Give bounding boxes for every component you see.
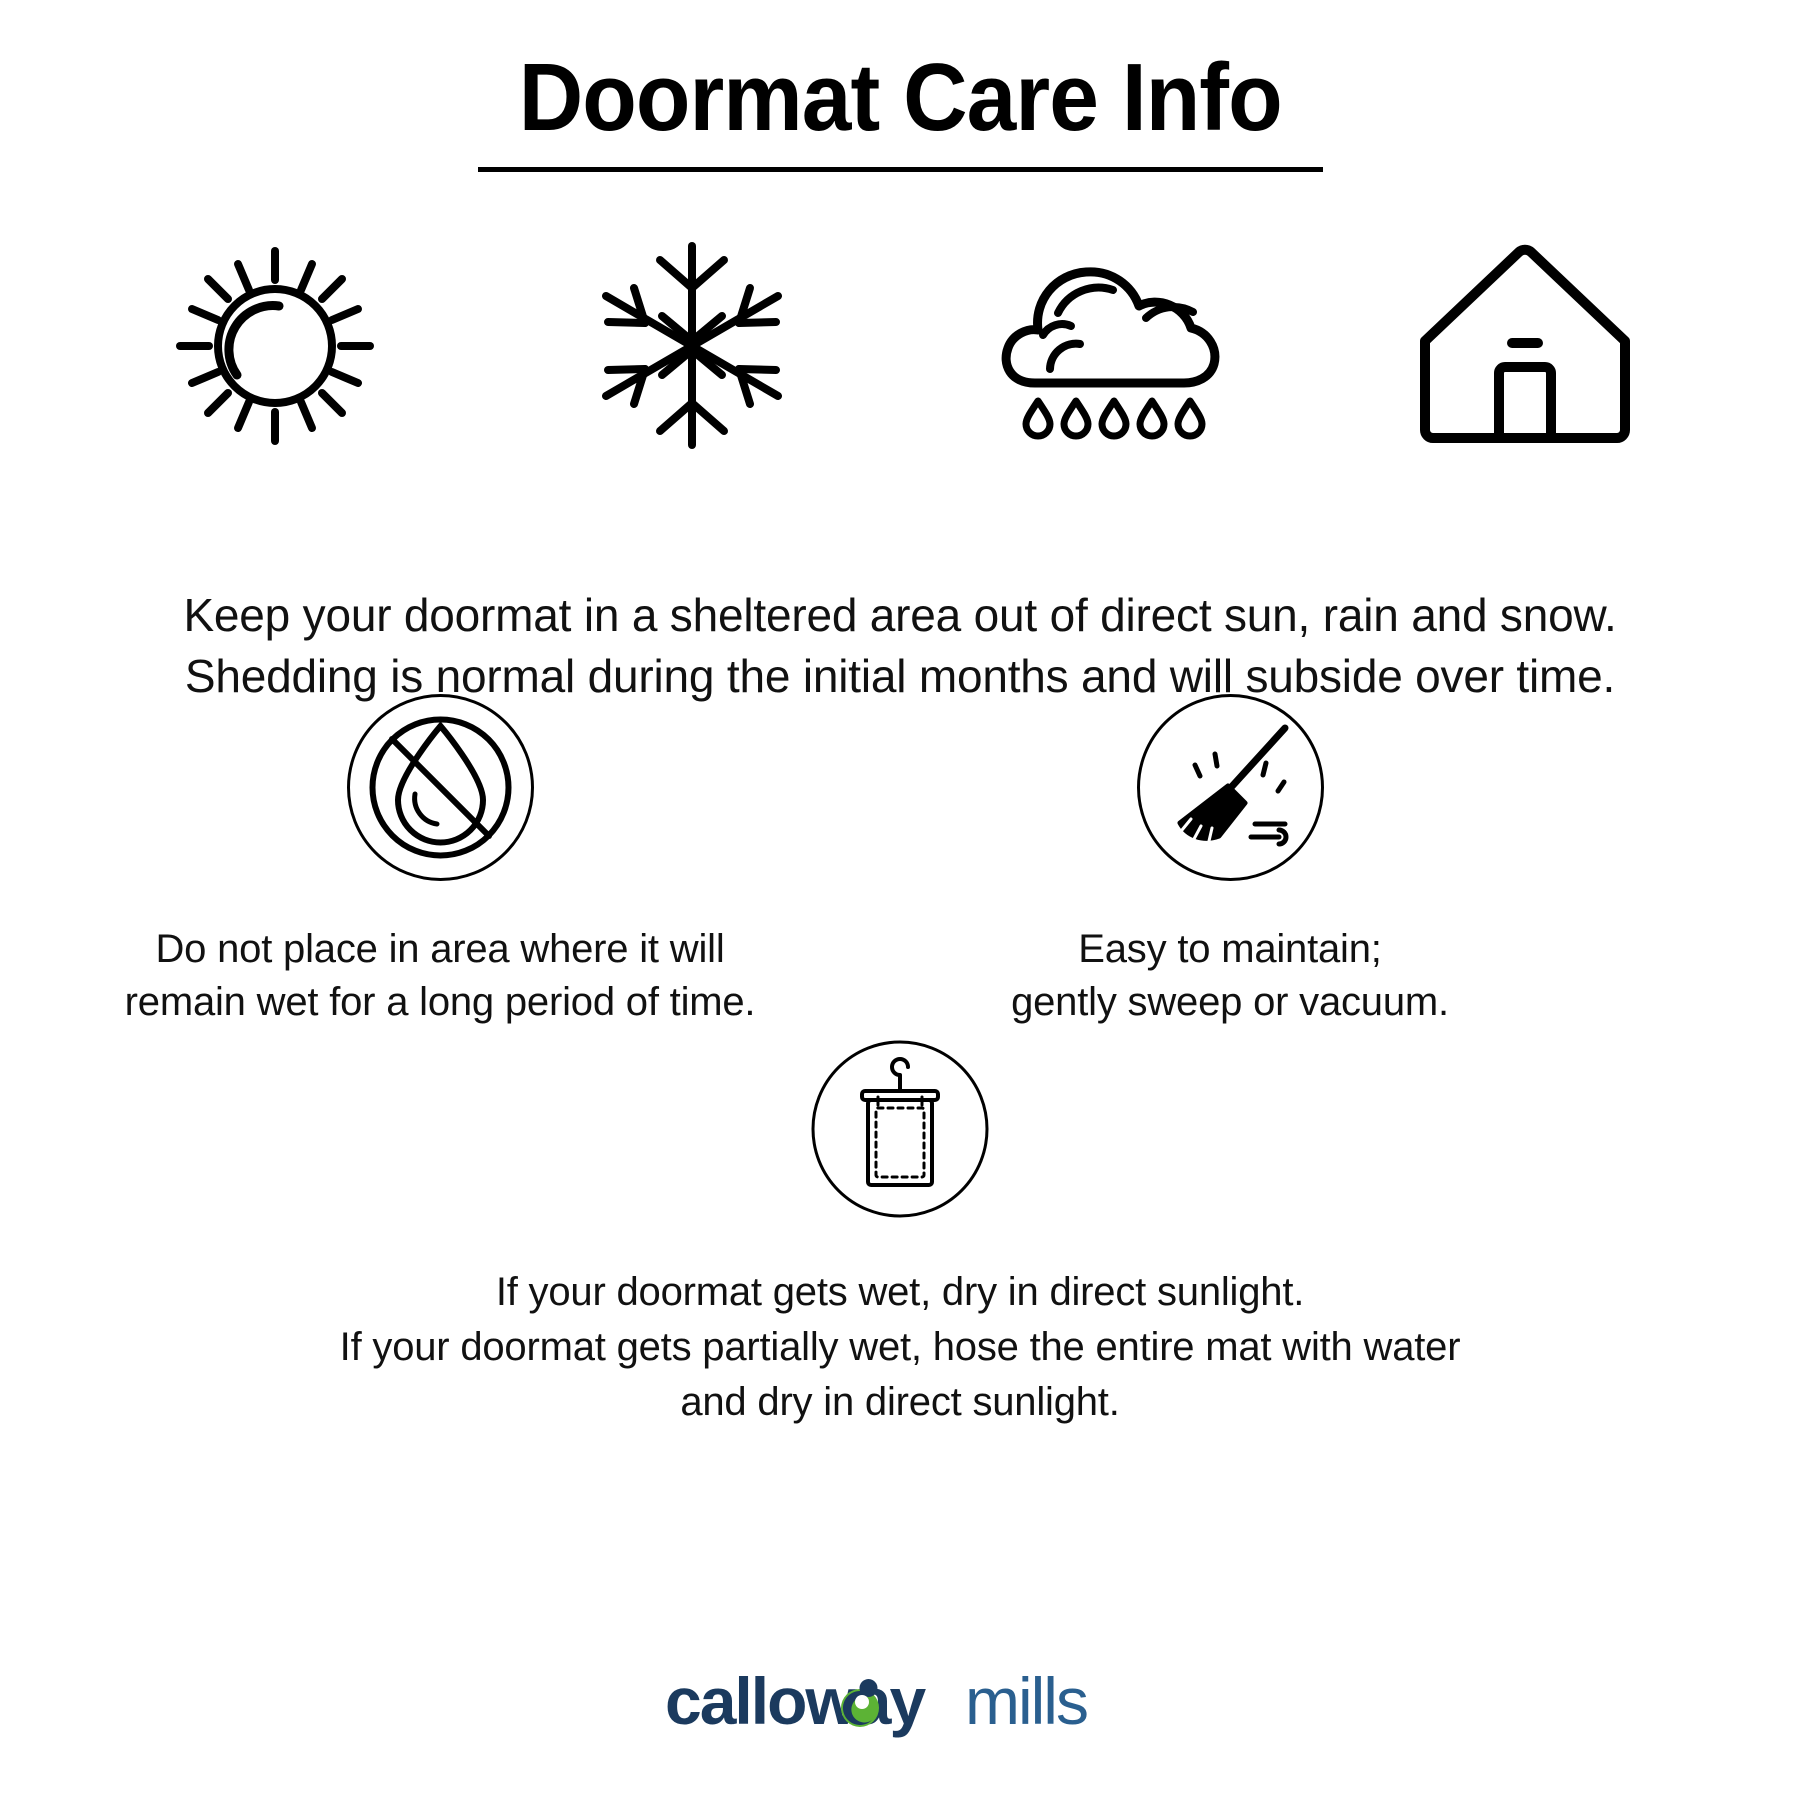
intro-line-1: Keep your doormat in a sheltered area ou… <box>70 585 1730 646</box>
calloway-mills-logo: calloway mills <box>665 1664 1135 1742</box>
sun-icon <box>165 238 385 453</box>
logo-word-mills: mills <box>965 1664 1087 1738</box>
broom-sweep-icon <box>1133 690 1328 885</box>
drying-line-2: If your doormat gets partially wet, hose… <box>0 1320 1800 1375</box>
rain-cloud-icon <box>988 238 1228 453</box>
no-water-droplet-icon-wrap <box>343 690 538 885</box>
title-divider <box>478 167 1323 172</box>
snowflake-icon-cell <box>567 238 817 453</box>
intro-paragraph: Keep your doormat in a sheltered area ou… <box>70 585 1730 707</box>
hanging-mat-dry-icon <box>806 1035 994 1223</box>
no-water-droplet-icon <box>343 690 538 885</box>
house-icon <box>1415 238 1635 453</box>
tip-line-1: Do not place in area where it will <box>60 923 820 976</box>
house-icon-cell <box>1400 238 1650 453</box>
drying-line-1: If your doormat gets wet, dry in direct … <box>0 1265 1800 1320</box>
tip-line-2: remain wet for a long period of time. <box>60 976 820 1029</box>
snowflake-icon <box>582 238 802 453</box>
tip-no-standing-water-caption: Do not place in area where it will remai… <box>60 923 820 1029</box>
weather-icon-row <box>150 238 1650 453</box>
header: Doormat Care Info <box>0 48 1800 172</box>
broom-sweep-icon-wrap <box>1133 690 1328 885</box>
tip-line-2: gently sweep or vacuum. <box>850 976 1610 1029</box>
tip-easy-maintain-caption: Easy to maintain; gently sweep or vacuum… <box>850 923 1610 1029</box>
doormat-care-info-page: Doormat Care Info <box>0 0 1800 1800</box>
tip-no-standing-water: Do not place in area where it will remai… <box>60 690 820 1029</box>
drying-line-3: and dry in direct sunlight. <box>0 1375 1800 1430</box>
hanging-mat-dry-icon-wrap <box>806 1035 994 1223</box>
drying-instructions: If your doormat gets wet, dry in direct … <box>0 1035 1800 1431</box>
drying-caption: If your doormat gets wet, dry in direct … <box>0 1265 1800 1431</box>
tips-row: Do not place in area where it will remai… <box>0 690 1800 990</box>
page-title: Doormat Care Info <box>518 48 1281 149</box>
sun-icon-cell <box>150 238 400 453</box>
tip-line-1: Easy to maintain; <box>850 923 1610 976</box>
tip-easy-maintain: Easy to maintain; gently sweep or vacuum… <box>850 690 1610 1029</box>
brand-logo: calloway mills <box>0 1664 1800 1742</box>
rain-cloud-icon-cell <box>983 238 1233 453</box>
logo-word-calloway: calloway <box>665 1664 926 1738</box>
